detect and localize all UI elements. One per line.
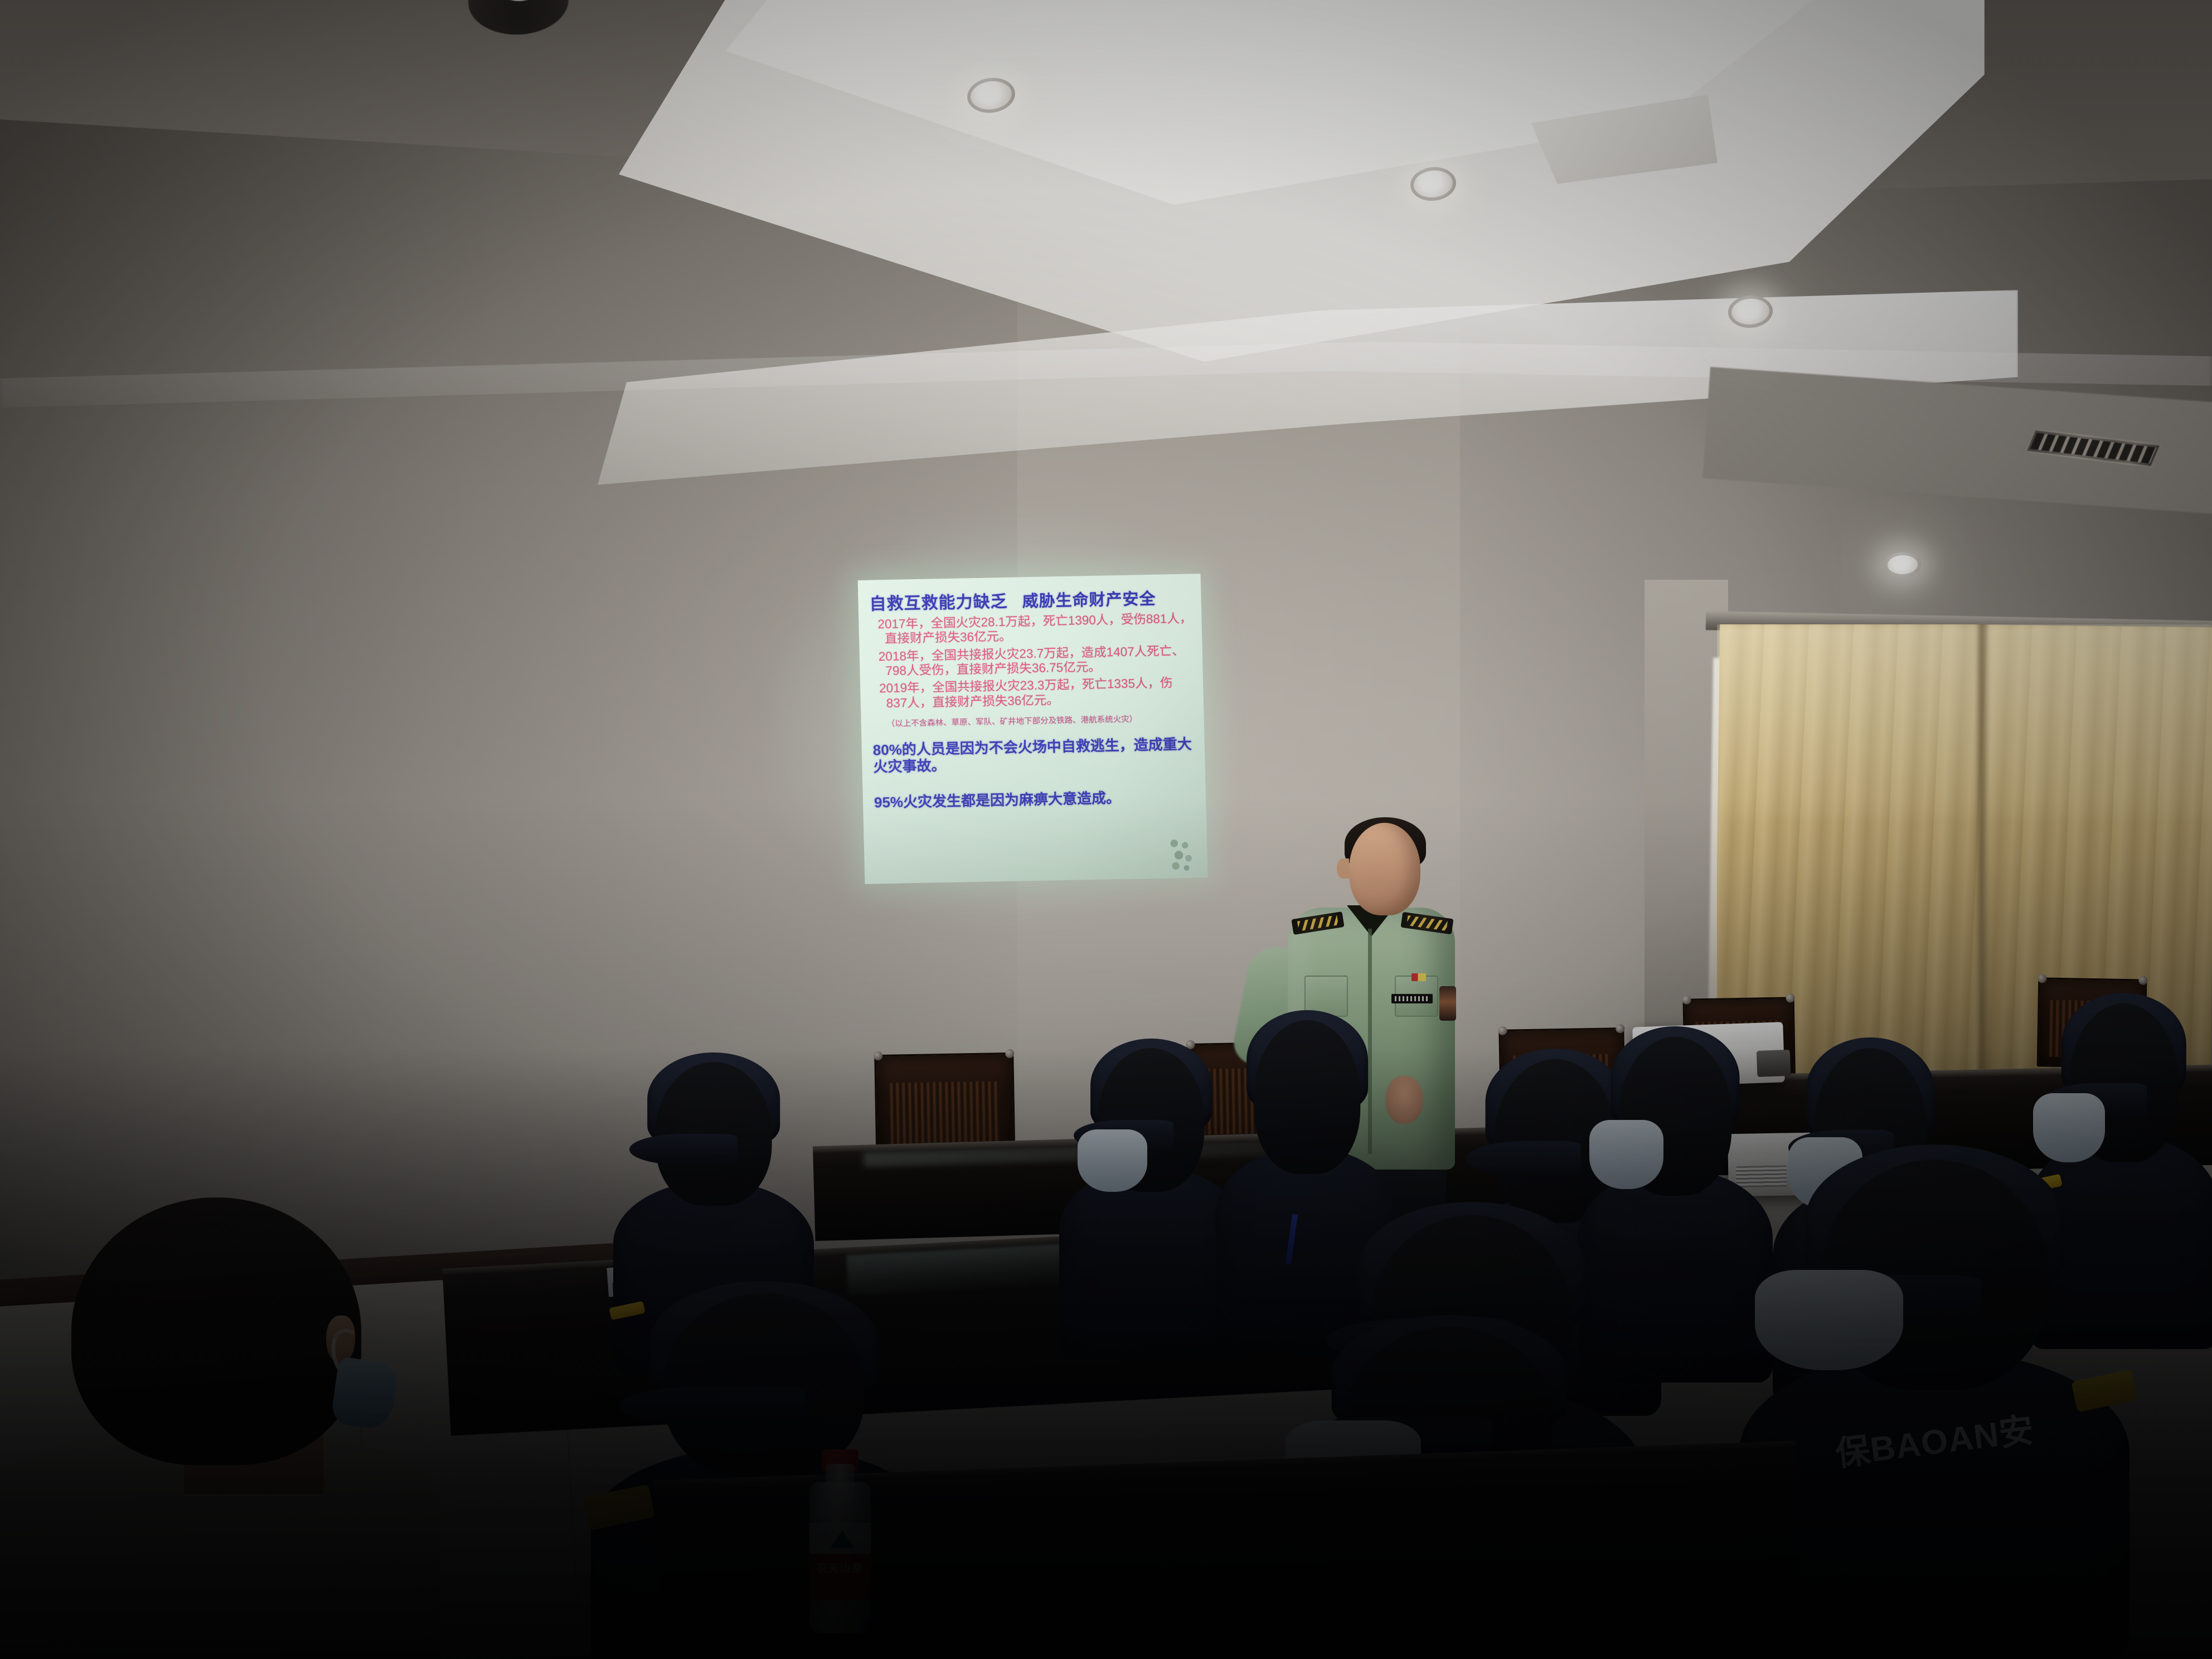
cap-brim bbox=[1466, 1141, 1580, 1177]
curtain-highlight bbox=[1717, 624, 2212, 818]
bottle-mountain-logo-icon bbox=[830, 1530, 855, 1548]
face-mask-icon bbox=[1755, 1270, 1903, 1370]
face-mask-icon bbox=[1589, 1120, 1663, 1189]
attendee-head bbox=[1254, 1020, 1360, 1174]
projected-slide: 自救互救能力缺乏 威胁生命财产安全 2017年，全国火灾28.1万起，死亡139… bbox=[858, 574, 1208, 884]
curtain-seam bbox=[1975, 624, 1990, 1109]
face-mask-icon bbox=[2033, 1093, 2105, 1162]
slide-corner-logo-icon bbox=[1165, 836, 1197, 872]
slide-title: 自救互救能力缺乏 威胁生命财产安全 bbox=[869, 584, 1192, 614]
slide-stat-2017: 2017年，全国火灾28.1万起，死亡1390人，受伤881人， 直接财产损失3… bbox=[870, 611, 1193, 647]
slide-stat-2019: 2019年，全国共接报火灾23.3万起，死亡1335人，伤 837人，直接财产损… bbox=[871, 676, 1195, 711]
conference-room-scene: 自救互救能力缺乏 威胁生命财产安全 2017年，全国火灾28.1万起，死亡139… bbox=[0, 0, 2212, 1659]
presenter-badge-icon bbox=[1411, 973, 1426, 981]
slide-highlight-95: 95%火灾发生都是因为麻痹大意造成。 bbox=[874, 788, 1197, 811]
cap-brim bbox=[629, 1134, 738, 1165]
cap-brim bbox=[619, 1386, 806, 1426]
dome-lens bbox=[492, 0, 546, 2]
slide-title-right: 威胁生命财产安全 bbox=[1022, 586, 1156, 612]
presenter-shoulder-patch-icon bbox=[1439, 986, 1456, 1021]
water-bottle-icon: 农夫山泉 bbox=[809, 1449, 871, 1633]
presenter-head bbox=[1349, 823, 1420, 915]
presenter-nametag bbox=[1391, 994, 1433, 1003]
foreground-hair bbox=[71, 1197, 361, 1465]
presenter-ear bbox=[1337, 858, 1349, 879]
slide-footnote: （以上不含森林、草原、军队、矿井地下部分及铁路、港航系统火灾） bbox=[872, 711, 1195, 729]
uniform-back-patch: 保BAOAN安 bbox=[1784, 1395, 2085, 1483]
slide-stat-2018: 2018年，全国共接报火灾23.7万起，造成1407人死亡、 798人受伤，直接… bbox=[871, 643, 1194, 679]
shoulder-epaulette bbox=[583, 1484, 655, 1531]
slide-highlight-80: 80%的人员是因为不会火场中自救逃生，造成重大火灾事故。 bbox=[872, 735, 1196, 775]
shoulder-epaulette bbox=[2071, 1369, 2137, 1413]
slide-title-left: 自救互救能力缺乏 bbox=[869, 588, 1008, 615]
bottle-brand-text: 农夫山泉 bbox=[809, 1560, 871, 1575]
face-mask-icon bbox=[1078, 1129, 1147, 1192]
